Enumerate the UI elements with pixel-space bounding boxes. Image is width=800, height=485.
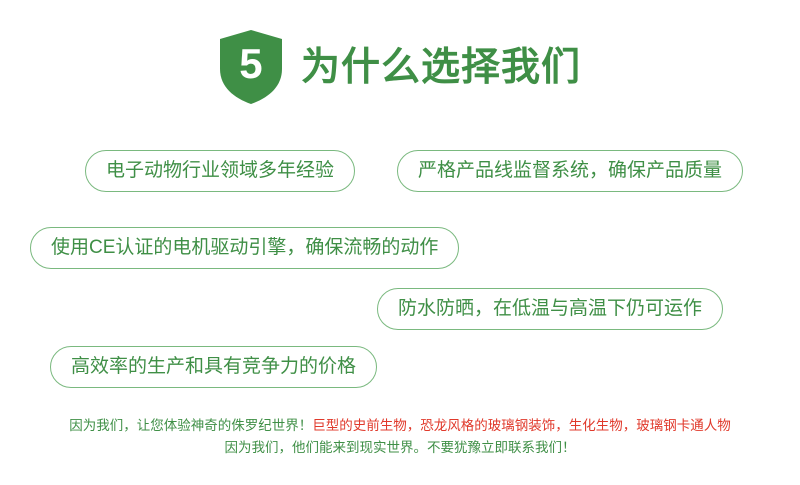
footer-line-1-prefix: 因为我们，让您体验神奇的侏罗纪世界！ bbox=[69, 418, 312, 433]
badge-number: 5 bbox=[219, 29, 283, 99]
shield-badge-icon: 5 bbox=[219, 29, 283, 105]
feature-pill: 严格产品线监督系统，确保产品质量 bbox=[397, 150, 743, 192]
footer-text: 因为我们，让您体验神奇的侏罗纪世界！巨型的史前生物，恐龙风格的玻璃钢装饰，生化生… bbox=[0, 415, 800, 459]
footer-line-1: 因为我们，让您体验神奇的侏罗纪世界！巨型的史前生物，恐龙风格的玻璃钢装饰，生化生… bbox=[0, 415, 800, 437]
feature-pill-list: 电子动物行业领域多年经验 严格产品线监督系统，确保产品质量 使用CE认证的电机驱… bbox=[0, 150, 800, 390]
feature-pill: 防水防晒，在低温与高温下仍可运作 bbox=[377, 288, 723, 330]
feature-pill: 电子动物行业领域多年经验 bbox=[85, 150, 355, 192]
page-title: 为什么选择我们 bbox=[301, 48, 581, 87]
feature-pill: 使用CE认证的电机驱动引擎，确保流畅的动作 bbox=[30, 227, 459, 269]
header: 5 为什么选择我们 bbox=[0, 28, 800, 106]
footer-line-1-highlight: 巨型的史前生物，恐龙风格的玻璃钢装饰，生化生物，玻璃钢卡通人物 bbox=[312, 418, 731, 433]
feature-pill: 高效率的生产和具有竞争力的价格 bbox=[50, 346, 377, 388]
promo-page: 5 为什么选择我们 电子动物行业领域多年经验 严格产品线监督系统，确保产品质量 … bbox=[0, 0, 800, 485]
footer-line-2: 因为我们，他们能来到现实世界。不要犹豫立即联系我们！ bbox=[0, 437, 800, 459]
